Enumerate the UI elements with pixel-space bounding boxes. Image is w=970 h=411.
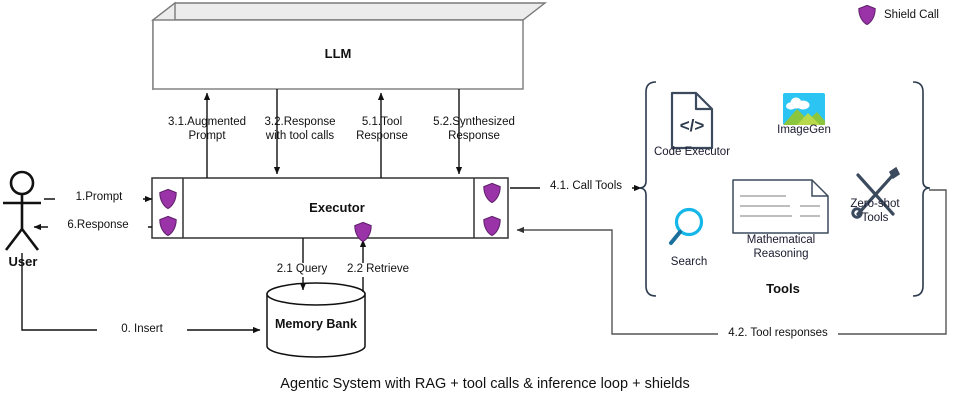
edge-0-insert-line <box>22 253 260 330</box>
diagram-canvas: </> <box>0 0 970 411</box>
edge-label-4-1-call-tools: 4.1. Call Tools <box>540 180 632 194</box>
legend-shield-label: Shield Call <box>884 9 970 23</box>
edge-label-2-2-retrieve: 2.2 Retrieve <box>331 263 425 277</box>
node-executor-label: Executor <box>285 201 389 215</box>
tool-label-mathematical-reasoning: Mathematical Reasoning <box>729 234 833 261</box>
equations-document-icon <box>733 180 828 233</box>
tools-left-brace <box>639 82 656 296</box>
llm-box-top-face <box>153 3 545 20</box>
node-llm-label: LLM <box>293 47 383 61</box>
edge-label-1-prompt: 1.Prompt <box>55 191 143 205</box>
image-picture-icon <box>783 93 825 125</box>
tool-label-imagegen: ImageGen <box>764 124 844 138</box>
diagram-caption: Agentic System with RAG + tool calls & i… <box>0 376 970 392</box>
shield-icon-legend <box>859 5 875 24</box>
tools-group-label: Tools <box>738 282 828 296</box>
code-document-icon: </> <box>672 93 712 148</box>
user-left-leg <box>6 229 22 250</box>
user-head <box>11 172 33 194</box>
tool-label-code-executor: Code Executor <box>645 146 739 160</box>
node-user[interactable] <box>3 172 41 250</box>
tools-right-brace <box>913 82 930 296</box>
memory-bank-top <box>267 283 365 305</box>
node-user-label: User <box>0 255 46 269</box>
edge-label-0-insert: 0. Insert <box>97 323 187 337</box>
svg-text:</>: </> <box>680 116 705 135</box>
edge-label-6-response: 6.Response <box>48 219 148 233</box>
edge-label-4-2-tool-responses: 4.2. Tool responses <box>718 327 838 341</box>
tool-label-zero-shot-tools: Zero-shot Tools <box>839 198 911 225</box>
edge-label-5-2-synthesized-response: 5.2.Synthesized Response <box>412 116 536 143</box>
magnifier-icon <box>671 210 702 244</box>
node-memory-bank-label: Memory Bank <box>266 318 366 332</box>
tool-label-search: Search <box>655 256 723 270</box>
user-right-leg <box>22 229 38 250</box>
